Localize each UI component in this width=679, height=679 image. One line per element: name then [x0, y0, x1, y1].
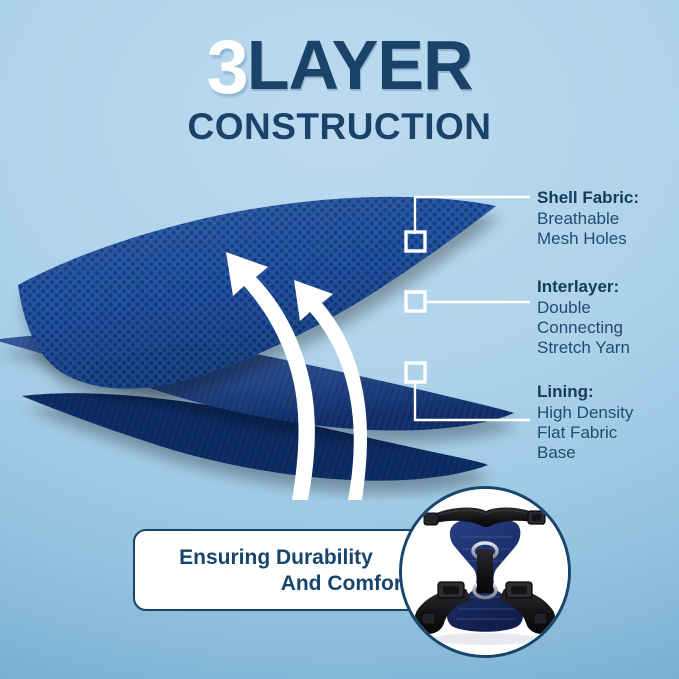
harness-center-strap [477, 549, 493, 593]
tagline-line1: Ensuring Durability [179, 546, 373, 569]
title-word: LAYER [247, 26, 473, 104]
callout-interlayer-line1: Double [537, 298, 630, 318]
callout-lining-line1: High Density [537, 403, 633, 423]
harness-buckle-right [506, 582, 532, 598]
callout-shell-fabric: Shell Fabric: Breathable Mesh Holes [537, 188, 639, 249]
callout-lining-line3: Base [537, 443, 633, 463]
callout-lining-heading: Lining: [537, 382, 633, 402]
callout-lining: Lining: High Density Flat Fabric Base [537, 382, 633, 463]
callout-shell-line2: Mesh Holes [537, 229, 639, 249]
callout-interlayer-line2: Connecting [537, 318, 630, 338]
fabric-layer-stack [0, 140, 520, 500]
title-main-row: 3LAYER [0, 30, 679, 106]
harness-buckle-left [438, 582, 464, 598]
tagline-text: Ensuring Durability And Comfort [135, 545, 417, 598]
callout-interlayer-heading: Interlayer: [537, 277, 630, 297]
dog-harness-illustration [402, 489, 568, 655]
tagline-line2: And Comfort [135, 571, 417, 597]
infographic-canvas: 3LAYER CONSTRUCTION [0, 0, 679, 679]
callout-shell-line1: Breathable [537, 209, 639, 229]
title-number: 3 [206, 25, 246, 110]
harness-slider-right [534, 613, 547, 624]
callout-shell-heading: Shell Fabric: [537, 188, 639, 208]
callout-interlayer: Interlayer: Double Connecting Stretch Ya… [537, 277, 630, 358]
callout-lining-line2: Flat Fabric [537, 423, 633, 443]
harness-slider-left [422, 613, 435, 624]
tagline-banner: Ensuring Durability And Comfort [133, 529, 431, 611]
callout-interlayer-line3: Stretch Yarn [537, 338, 630, 358]
product-photo-circle [399, 486, 571, 658]
page-title: 3LAYER CONSTRUCTION [0, 30, 679, 130]
